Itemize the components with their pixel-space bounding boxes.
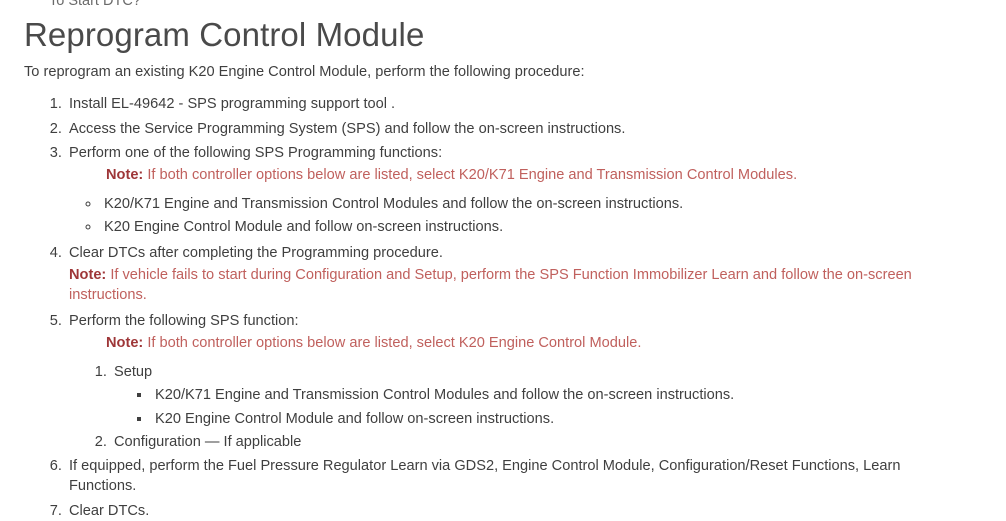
- note-label: Note:: [106, 167, 143, 183]
- sub-option-list: K20/K71 Engine and Transmission Control …: [69, 194, 982, 237]
- step-text: Perform the following SPS function:: [69, 313, 299, 329]
- service-procedure-page: To Start DTC? Reprogram Control Module T…: [0, 0, 1006, 474]
- note-callout: Note: If both controller options below a…: [69, 333, 982, 354]
- list-item: Setup K20/K71 Engine and Transmission Co…: [111, 362, 982, 428]
- sps-function-list: Setup K20/K71 Engine and Transmission Co…: [69, 362, 982, 452]
- note-text: If both controller options below are lis…: [143, 167, 797, 183]
- list-item: K20 Engine Control Module and follow on-…: [101, 217, 982, 237]
- list-item: Access the Service Programming System (S…: [66, 119, 982, 139]
- note-callout: Note: If both controller options below a…: [69, 165, 982, 186]
- note-callout: Note: If vehicle fails to start during C…: [69, 265, 931, 306]
- list-item: Clear DTCs.: [66, 501, 982, 521]
- note-text: If both controller options below are lis…: [143, 335, 641, 351]
- list-item: If equipped, perform the Fuel Pressure R…: [66, 456, 931, 496]
- step-text: Clear DTCs.: [69, 503, 149, 519]
- page-title: Reprogram Control Module: [24, 0, 982, 55]
- sub-option-list: K20/K71 Engine and Transmission Control …: [114, 385, 982, 428]
- list-item: K20 Engine Control Module and follow on-…: [152, 409, 982, 429]
- step-text: If equipped, perform the Fuel Pressure R…: [69, 458, 901, 494]
- clipped-preceding-line: To Start DTC?: [49, 0, 141, 9]
- procedure-step-list: Install EL-49642 - SPS programming suppo…: [24, 94, 982, 521]
- list-item: Perform one of the following SPS Program…: [66, 143, 982, 237]
- list-item: Clear DTCs after completing the Programm…: [66, 243, 931, 306]
- list-item: Install EL-49642 - SPS programming suppo…: [66, 94, 982, 114]
- step-text: Install EL-49642 - SPS programming suppo…: [69, 96, 395, 112]
- note-label: Note:: [106, 335, 143, 351]
- sub-step-text: Setup: [114, 364, 152, 380]
- list-item: Perform the following SPS function: Note…: [66, 311, 982, 452]
- sub-step-text: Configuration — If applicable: [114, 434, 301, 450]
- list-item: Configuration — If applicable: [111, 432, 982, 452]
- intro-paragraph: To reprogram an existing K20 Engine Cont…: [24, 62, 982, 83]
- list-item: K20/K71 Engine and Transmission Control …: [101, 194, 982, 214]
- note-label: Note:: [69, 267, 106, 283]
- note-text: If vehicle fails to start during Configu…: [69, 267, 912, 304]
- list-item: K20/K71 Engine and Transmission Control …: [152, 385, 982, 405]
- step-text: Perform one of the following SPS Program…: [69, 145, 442, 161]
- step-text: Access the Service Programming System (S…: [69, 121, 625, 137]
- step-text: Clear DTCs after completing the Programm…: [69, 245, 443, 261]
